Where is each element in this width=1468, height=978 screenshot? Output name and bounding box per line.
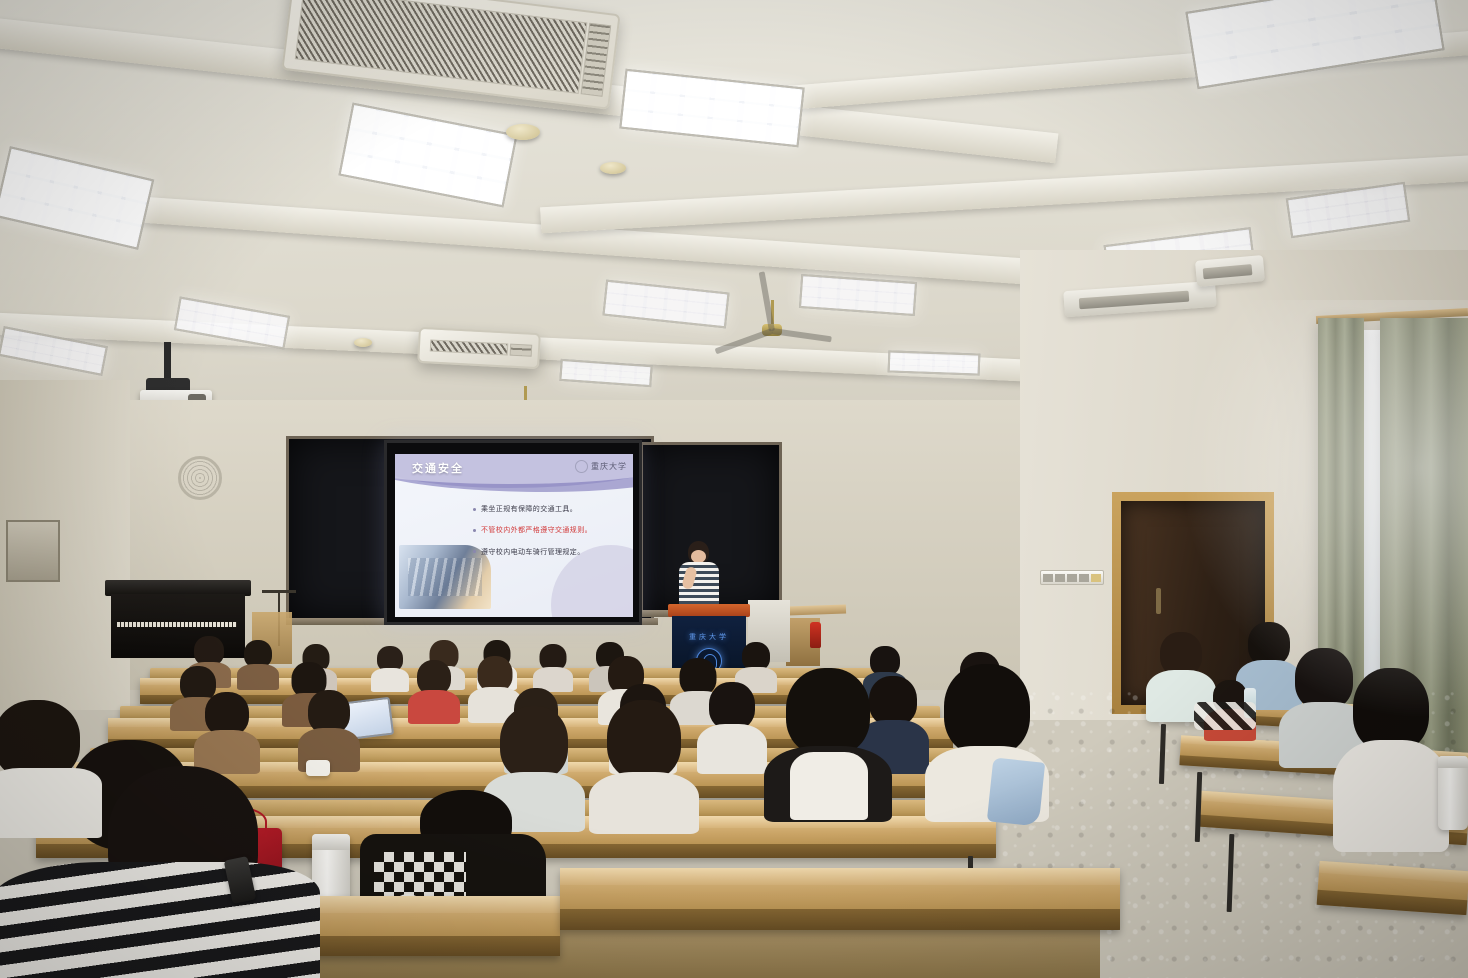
light-panel-12 [888,350,981,375]
smoke-detector-icon [354,338,372,347]
piano-keys [117,622,237,627]
student [372,646,408,690]
slide-bullet: 不管校内外都严格遵守交通规则。 [473,527,623,535]
slide-bullet-text: 不管校内外都严格遵守交通规则。 [481,527,592,534]
student-head [944,664,1030,756]
shirt-body-panel [790,752,868,820]
smoke-detector-icon [600,162,626,174]
fan-cage-icon [178,456,222,500]
ceiling-fan-1 [742,300,802,346]
slide-bullet-text: 乘坐正规有保障的交通工具。 [481,506,577,513]
wall-mounted-fan [178,456,222,500]
slide-title: 交通安全 [412,460,464,476]
university-logo: 重庆大学 [575,460,627,473]
slide-bullet-list: 乘坐正规有保障的交通工具。 不管校内外都严格遵守交通规则。 遵守校内电动车骑行管… [473,506,623,570]
switch[interactable] [1067,574,1077,582]
desk-underside [560,909,1120,930]
lectern-text: 重庆大学 [672,632,746,642]
slide-bullet-text: 遵守校内电动车骑行管理规定。 [481,549,585,556]
slide-bullet: 遵守校内电动车骑行管理规定。 [473,549,623,557]
ceiling-cassette-ac-2 [417,327,541,369]
student [592,700,696,830]
student [0,700,104,830]
switch[interactable] [1055,574,1065,582]
switch[interactable] [1079,574,1089,582]
student-torso [589,772,699,834]
fire-extinguisher [810,622,821,648]
raglan-shirt-student [768,668,888,818]
student [300,690,358,768]
university-logo-text: 重庆大学 [591,461,627,472]
projector-mount [164,342,171,382]
door-handle-icon[interactable] [1156,588,1161,614]
smoke-detector-icon [506,124,540,140]
bullet-dot-icon [473,550,476,553]
switch[interactable] [1043,574,1053,582]
student-torso [237,664,279,690]
wall-cabinet [6,520,60,582]
lecture-hall-photo: 交通安全 重庆大学 乘坐正规有保障的交通工具。 不管校内外都严格遵守交通规则。 … [0,0,1468,978]
presenter [676,541,722,607]
student [700,682,764,770]
projection-screen: 交通安全 重庆大学 乘坐正规有保障的交通工具。 不管校内外都严格遵守交通规则。 … [384,440,642,625]
light-switch-panel[interactable] [1040,570,1104,585]
bullet-dot-icon [473,529,476,532]
desk-row-e-right [560,868,1120,930]
student-torso [371,668,409,692]
checkered-pouch[interactable] [1194,702,1256,730]
student-head [709,682,755,730]
student [534,644,572,690]
student-torso [408,690,460,724]
student-head [500,706,568,780]
university-seal-icon [575,460,588,473]
blue-denim-shirt-student [928,664,1046,820]
bullet-dot-icon [473,508,476,511]
desk-edge [560,868,1120,885]
student-torso [1333,740,1449,852]
ac-grille [430,339,509,355]
presentation-slide: 交通安全 重庆大学 乘坐正规有保障的交通工具。 不管校内外都严格遵守交通规则。 … [395,454,633,617]
student-torso [697,724,767,774]
student-head [607,700,681,780]
student-head [786,668,870,756]
student [1336,668,1446,848]
slide-bullet: 乘坐正规有保障的交通工具。 [473,506,623,514]
student [410,660,458,722]
switch[interactable] [1091,574,1101,582]
student [238,640,278,688]
white-thermos[interactable] [1438,756,1468,830]
student-torso [0,768,102,838]
draped-denim-shirt [987,757,1045,826]
striped-top [0,862,320,978]
ac-vent [510,344,533,357]
